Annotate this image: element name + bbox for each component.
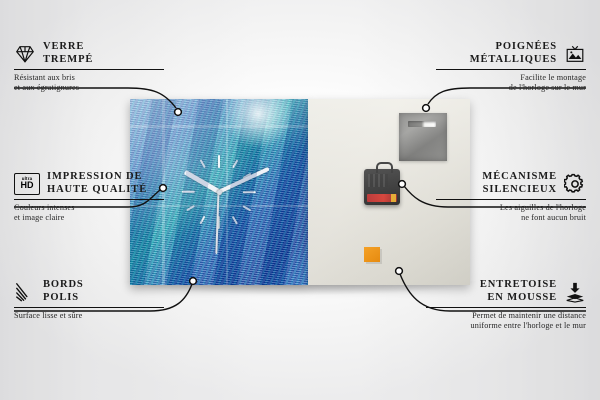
callout-divider xyxy=(14,199,164,200)
metal-hanger-plate xyxy=(399,113,447,161)
product-image xyxy=(130,99,470,285)
callout-divider xyxy=(436,69,586,70)
callout-description: Permet de maintenir une distance uniform… xyxy=(426,311,586,331)
callout-bords-polis[interactable]: BORDS POLIS Surface lisse et sûre xyxy=(14,279,164,321)
ultra-hd-icon: ultra HD xyxy=(14,173,40,195)
callout-header: MÉCANISME SILENCIEUX xyxy=(436,171,586,196)
callout-divider xyxy=(426,307,586,308)
callout-title: ENTRETOISE EN MOUSSE xyxy=(480,279,557,304)
callout-description: Surface lisse et sûre xyxy=(14,311,164,321)
clock-mechanism xyxy=(364,169,400,205)
callout-divider xyxy=(14,69,164,70)
diamond-icon xyxy=(14,43,36,65)
polished-edges-icon xyxy=(14,281,36,303)
callout-header: ultra HD IMPRESSION DE HAUTE QUALITÉ xyxy=(14,171,164,196)
callout-poignees-metalliques[interactable]: POIGNÉES MÉTALLIQUES Facilite le montage… xyxy=(436,41,586,93)
callout-title: IMPRESSION DE HAUTE QUALITÉ xyxy=(47,171,147,196)
callout-description: Facilite le montage de l'horloge sur le … xyxy=(436,73,586,93)
clock-tick xyxy=(187,173,252,211)
clock-tick xyxy=(182,191,256,193)
callout-header: VERRE TREMPÉ xyxy=(14,41,164,66)
callout-header: BORDS POLIS xyxy=(14,279,164,304)
callout-verre-trempe[interactable]: VERRE TREMPÉ Résistant aux bris et aux é… xyxy=(14,41,164,93)
infographic-canvas: VERRE TREMPÉ Résistant aux bris et aux é… xyxy=(0,0,600,400)
callout-impression-haute-qualite[interactable]: ultra HD IMPRESSION DE HAUTE QUALITÉ Cou… xyxy=(14,171,164,223)
battery xyxy=(367,194,397,202)
mechanism-label xyxy=(368,174,388,187)
clock-tick xyxy=(200,160,238,225)
hanger-slot xyxy=(408,121,436,127)
clock-tick xyxy=(187,173,252,211)
callout-entretoise-en-mousse[interactable]: ENTRETOISE EN MOUSSE Permet de maintenir… xyxy=(426,279,586,331)
clock-tick xyxy=(200,160,238,225)
callout-title: BORDS POLIS xyxy=(43,279,84,304)
frame-hanger-icon xyxy=(564,43,586,65)
callout-title: POIGNÉES MÉTALLIQUES xyxy=(470,41,557,66)
clock-second-hand xyxy=(216,192,220,254)
callout-description: Résistant aux bris et aux égratignures xyxy=(14,73,164,93)
foam-spacer-icon xyxy=(564,281,586,303)
decor-grid-line xyxy=(226,99,228,285)
callout-title: MÉCANISME SILENCIEUX xyxy=(482,171,557,196)
clock-tick xyxy=(187,173,252,211)
callout-divider xyxy=(14,307,164,308)
clock-tick xyxy=(218,155,220,229)
clock-tick xyxy=(182,191,256,193)
callout-header: ENTRETOISE EN MOUSSE xyxy=(426,279,586,304)
callout-mecanisme-silencieux[interactable]: MÉCANISME SILENCIEUX Les aiguilles de l'… xyxy=(436,171,586,223)
gear-icon xyxy=(564,173,586,195)
clock-hour-hand xyxy=(183,170,220,194)
clock-tick xyxy=(187,173,252,211)
clock-tick xyxy=(200,160,238,225)
clock-tick xyxy=(200,160,238,225)
callout-divider xyxy=(436,199,586,200)
clock-minute-hand xyxy=(218,167,270,194)
foam-spacer xyxy=(364,247,380,262)
clock-tick xyxy=(218,155,220,229)
callout-title: VERRE TREMPÉ xyxy=(43,41,93,66)
mechanism-hook xyxy=(376,162,393,173)
callout-description: Les aiguilles de l'horloge ne font aucun… xyxy=(436,203,586,223)
callout-header: POIGNÉES MÉTALLIQUES xyxy=(436,41,586,66)
decor-grid-line xyxy=(130,125,308,128)
clock-hand-cap xyxy=(217,190,222,195)
battery-terminal xyxy=(391,194,396,202)
callout-description: Couleurs intenses et image claire xyxy=(14,203,164,223)
